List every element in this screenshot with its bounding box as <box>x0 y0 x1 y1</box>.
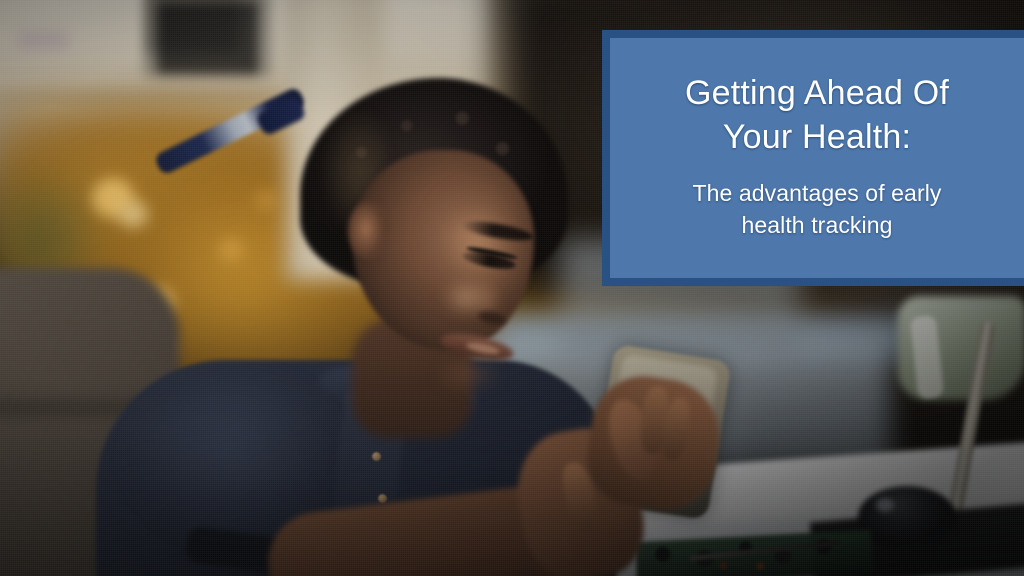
slide-subtitle-line-2: health tracking <box>692 209 941 241</box>
title-card: Getting Ahead Of Your Health: The advant… <box>602 30 1024 286</box>
slide-title-line-2: Your Health: <box>685 115 949 159</box>
slide-title-line-1: Getting Ahead Of <box>685 71 949 115</box>
slide-canvas: Getting Ahead Of Your Health: The advant… <box>0 0 1024 576</box>
slide-subtitle: The advantages of early health tracking <box>692 177 941 241</box>
slide-title: Getting Ahead Of Your Health: <box>685 71 949 159</box>
title-card-inner: Getting Ahead Of Your Health: The advant… <box>610 38 1024 278</box>
slide-subtitle-line-1: The advantages of early <box>692 177 941 209</box>
